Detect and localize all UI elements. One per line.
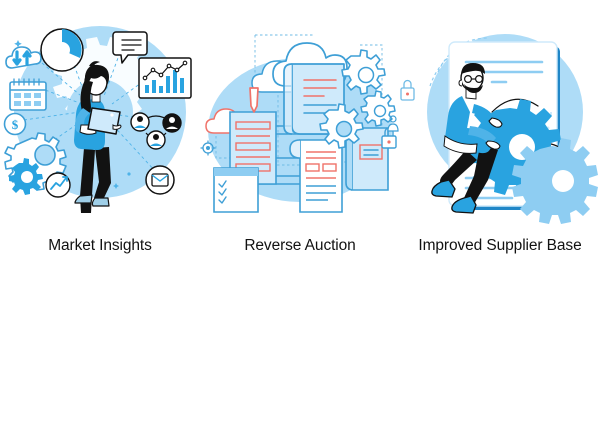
checklist-icon	[214, 168, 258, 212]
gear-icon	[342, 50, 385, 94]
calendar-icon	[10, 79, 46, 110]
panel-caption-improved-supplier-base: Improved Supplier Base	[418, 236, 581, 256]
panel-row: $	[0, 0, 600, 360]
envelope-icon	[146, 166, 174, 194]
lock-icon	[401, 81, 414, 100]
dollar-coin-icon: $	[5, 114, 26, 135]
improved-supplier-base-illustration	[400, 0, 600, 230]
illustration-page: $	[0, 0, 600, 430]
bar-chart-icon	[139, 58, 191, 98]
panel-reverse-auction[interactable]: Reverse Auction	[200, 0, 400, 360]
panel-improved-supplier-base[interactable]: Improved Supplier Base	[400, 0, 600, 360]
market-insights-illustration: $	[0, 0, 200, 230]
panel-market-insights[interactable]: $	[0, 0, 200, 360]
reverse-auction-illustration	[200, 0, 400, 230]
svg-text:$: $	[12, 117, 19, 132]
panel-caption-reverse-auction: Reverse Auction	[244, 236, 355, 256]
pie-chart-icon	[41, 29, 83, 71]
trend-arrow-icon	[46, 173, 70, 197]
panel-caption-market-insights: Market Insights	[48, 236, 152, 256]
second-gear-icon	[512, 138, 598, 224]
